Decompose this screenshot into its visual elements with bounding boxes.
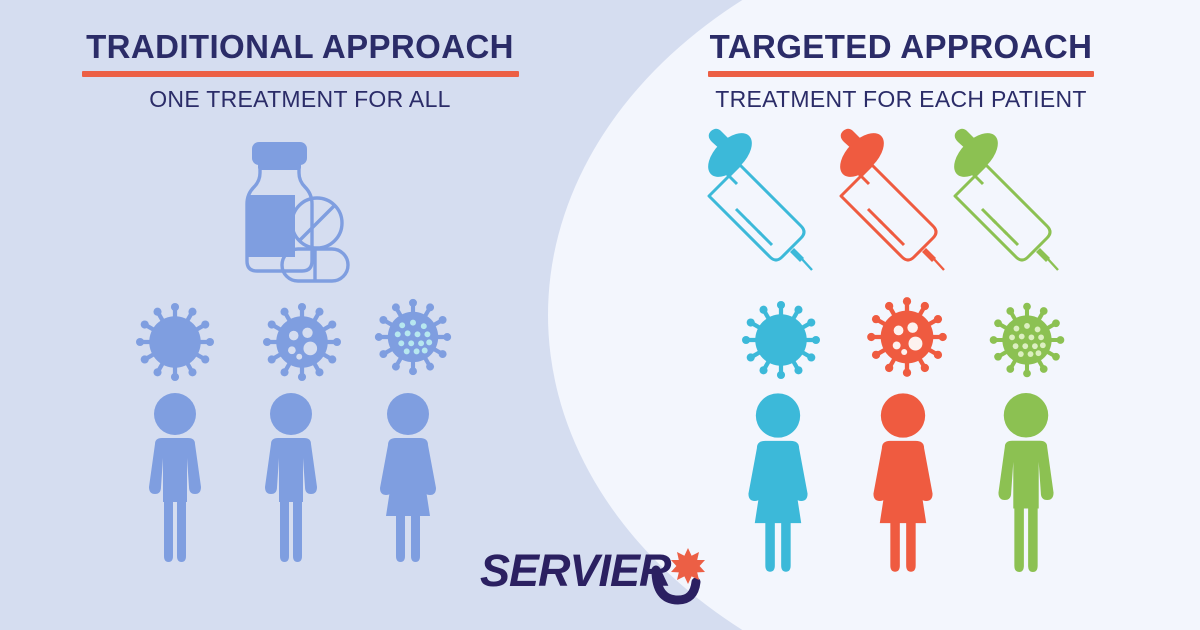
- virus-plain-icon: [735, 294, 827, 386]
- patient-figure-male: [258, 392, 324, 562]
- patient-figure-female: [740, 392, 816, 572]
- virus-holes-icon: [255, 296, 349, 388]
- right-panel-title: TARGETED APPROACH: [662, 28, 1140, 66]
- syringe-icon: [706, 130, 812, 280]
- logo-wordmark: SERVIER: [480, 545, 672, 596]
- virus-plain-icon: [128, 296, 222, 388]
- virus-dotted-icon: [983, 296, 1071, 384]
- patient-figure-male: [990, 392, 1062, 572]
- patient-figure-female: [865, 392, 941, 572]
- patient-figure-male: [142, 392, 208, 562]
- patient-figure-female: [372, 392, 444, 562]
- right-panel-subtitle: TREATMENT FOR EACH PATIENT: [662, 86, 1140, 113]
- syringe-icon: [838, 130, 944, 280]
- syringe-icon: [952, 130, 1058, 280]
- right-panel-header: TARGETED APPROACH TREATMENT FOR EACH PAT…: [662, 28, 1140, 113]
- virus-dotted-icon: [368, 292, 458, 382]
- right-title-underline: [708, 71, 1094, 77]
- infographic-canvas: TRADITIONAL APPROACH ONE TREATMENT FOR A…: [0, 0, 1200, 630]
- left-panel-header: TRADITIONAL APPROACH ONE TREATMENT FOR A…: [60, 28, 540, 113]
- starburst-icon: [671, 548, 705, 584]
- left-panel-subtitle: ONE TREATMENT FOR ALL: [60, 86, 540, 113]
- servier-logo: SERVIER: [480, 546, 710, 602]
- left-panel-title: TRADITIONAL APPROACH: [60, 28, 540, 66]
- virus-holes-icon: [860, 290, 954, 384]
- left-title-underline: [82, 71, 519, 77]
- vial-and-pills-icon: [232, 137, 350, 282]
